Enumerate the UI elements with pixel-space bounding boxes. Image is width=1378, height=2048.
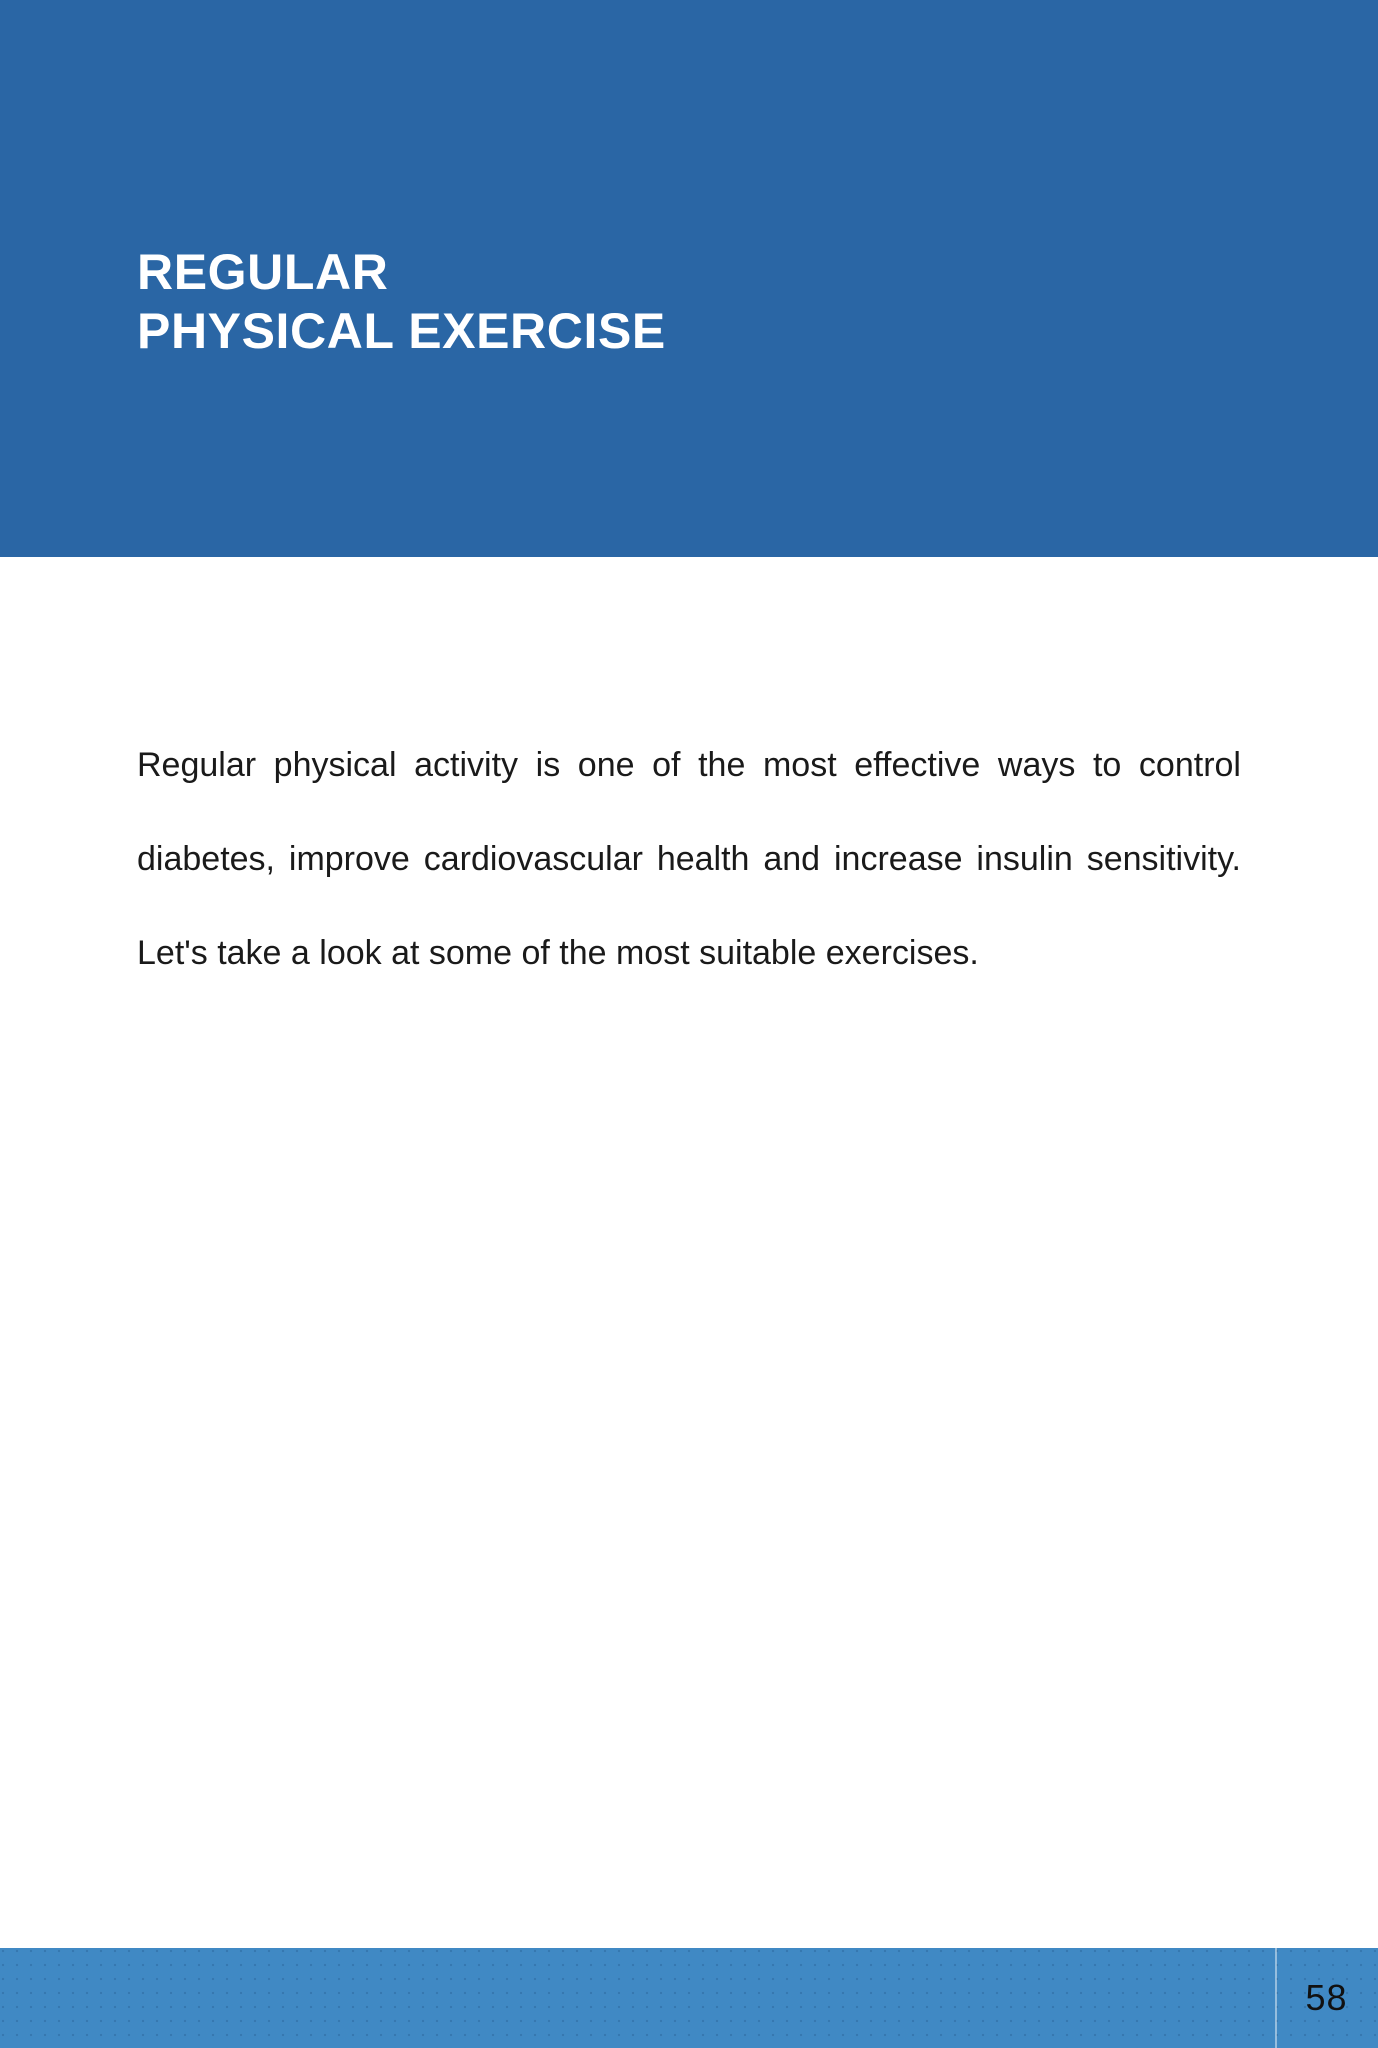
header-banner: REGULAR PHYSICAL EXERCISE (0, 0, 1378, 557)
document-page: REGULAR PHYSICAL EXERCISE Regular physic… (0, 0, 1378, 2048)
page-number: 58 (1275, 1948, 1378, 2048)
footer-banner: 58 (0, 1948, 1378, 2048)
body-content: Regular physical activity is one of the … (137, 718, 1241, 1000)
intro-paragraph: Regular physical activity is one of the … (137, 718, 1241, 1000)
page-title: REGULAR PHYSICAL EXERCISE (137, 243, 666, 361)
